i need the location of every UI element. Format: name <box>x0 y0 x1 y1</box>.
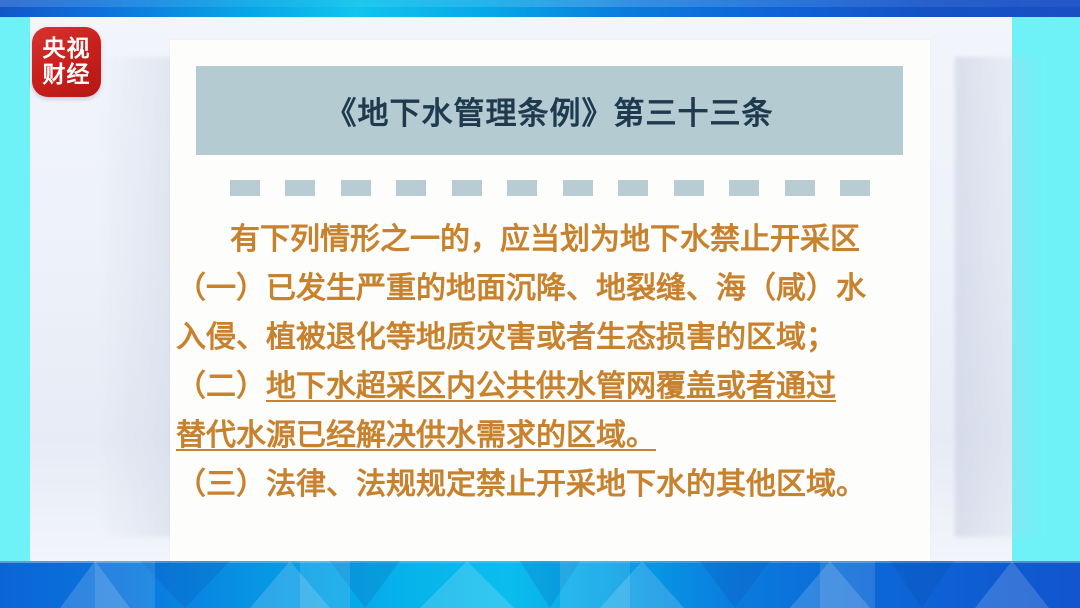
band-triangle-motif <box>975 561 1049 608</box>
band-triangle-motif <box>420 561 514 608</box>
separator-square <box>618 180 648 196</box>
separator-square <box>396 180 426 196</box>
regulation-line: （一）已发生严重的地面沉降、地裂缝、海（咸）水 <box>176 264 924 313</box>
page-title: 《地下水管理条例》第三十三条 <box>326 88 774 133</box>
highlighted-clause-text: 地下水超采区内公共供水管网覆盖或者通过 <box>266 369 836 404</box>
regulation-line: 有下列情形之一的，应当划为地下水禁止开采区 <box>176 215 924 264</box>
separator-square <box>674 180 704 196</box>
band-triangle-motif <box>890 561 954 608</box>
band-square-motif <box>820 561 875 608</box>
bottom-gradient-band <box>0 561 1080 608</box>
separator-square <box>729 180 759 196</box>
regulation-line: 入侵、植被退化等地质灾害或者生态损害的区域； <box>176 313 924 362</box>
highlighted-clause-text: 替代水源已经解决供水需求的区域。 <box>176 418 656 453</box>
cctv-finance-logo: 央视 财经 <box>32 27 101 97</box>
logo-line-2: 财经 <box>43 64 91 87</box>
band-triangle-motif <box>700 561 770 608</box>
broadcast-stage: 《地下水管理条例》第三十三条 有下列情形之一的，应当划为地下水禁止开采区（一）已… <box>0 0 1080 608</box>
separator-square <box>230 180 260 196</box>
dashed-square-separator <box>230 180 870 196</box>
left-cyan-pillar <box>0 17 30 561</box>
band-square-motif <box>560 561 630 608</box>
backdrop-shade-right <box>955 57 1045 537</box>
separator-square <box>285 180 315 196</box>
regulation-line: （三）法律、法规规定禁止开采地下水的其他区域。 <box>176 460 924 509</box>
band-square-motif <box>95 561 155 608</box>
separator-square <box>840 180 870 196</box>
content-card: 《地下水管理条例》第三十三条 有下列情形之一的，应当划为地下水禁止开采区（一）已… <box>170 40 930 561</box>
separator-square <box>507 180 537 196</box>
separator-square <box>341 180 371 196</box>
regulation-line: 替代水源已经解决供水需求的区域。 <box>176 411 924 460</box>
clause-marker: （二） <box>176 369 266 404</box>
separator-square <box>785 180 815 196</box>
logo-line-1: 央视 <box>43 38 91 61</box>
separator-square <box>452 180 482 196</box>
separator-square <box>563 180 593 196</box>
top-bar-sheen <box>0 0 1080 7</box>
regulation-line: （二）地下水超采区内公共供水管网覆盖或者通过 <box>176 362 924 411</box>
regulation-body-text: 有下列情形之一的，应当划为地下水禁止开采区（一）已发生严重的地面沉降、地裂缝、海… <box>176 215 924 509</box>
title-band: 《地下水管理条例》第三十三条 <box>196 66 903 155</box>
top-gradient-bar <box>0 0 1080 17</box>
band-square-motif <box>300 561 350 608</box>
